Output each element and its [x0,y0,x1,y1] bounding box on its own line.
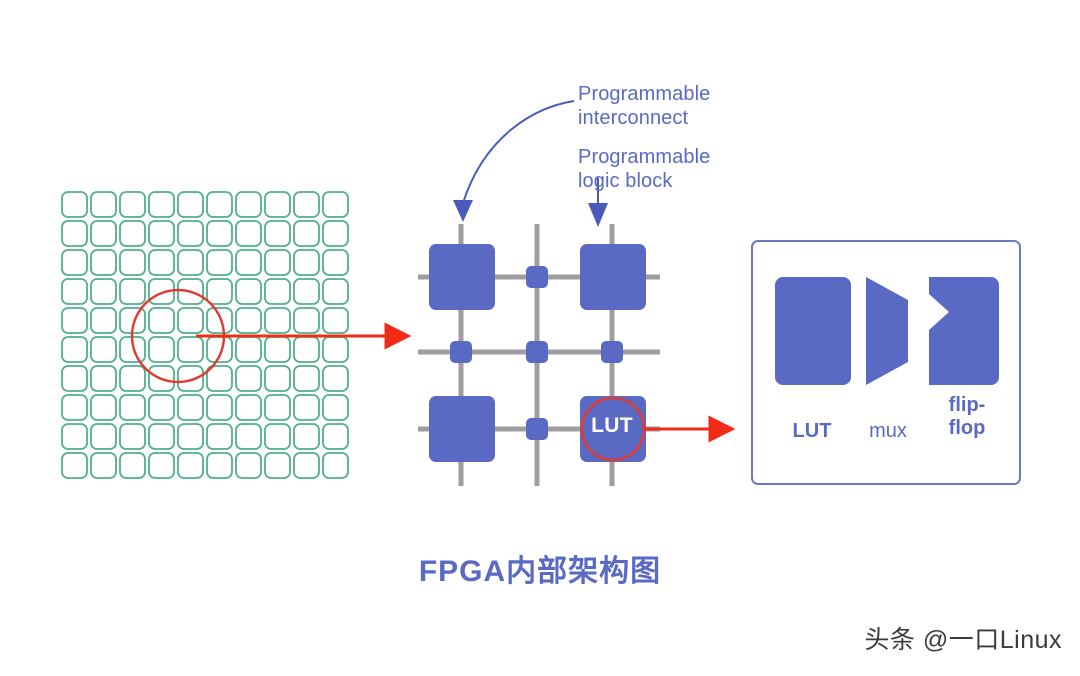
grid-cell [265,308,290,333]
grid-cell [91,221,116,246]
grid-cell [323,308,348,333]
grid-cell [323,279,348,304]
grid-cell [120,250,145,275]
grid-cell [294,192,319,217]
page-title: FPGA内部架构图 [0,546,1080,590]
grid-row [62,424,348,449]
grid-cell [149,221,174,246]
grid-cell [236,395,261,420]
grid-cell [120,424,145,449]
grid-cell [294,337,319,362]
mux-shape[interactable] [866,277,908,385]
grid-cell [207,192,232,217]
grid-cell [91,279,116,304]
grid-cell [62,192,87,217]
curved-arrow-interconnect-head [453,200,473,222]
callout-programmable-logic-block: Programmable logic block [578,145,710,193]
grid-cell [91,308,116,333]
grid-cell [236,337,261,362]
grid-cell [265,279,290,304]
grid-row [62,250,348,275]
grid-cell [120,395,145,420]
grid-cell [207,221,232,246]
flipflop-shape[interactable] [929,277,999,385]
grid-cell [323,453,348,478]
grid-cell [178,337,203,362]
grid-cell [91,395,116,420]
logic-block-top-left[interactable] [429,244,495,310]
grid-cell [62,250,87,275]
grid-cell [207,279,232,304]
grid-cell [265,250,290,275]
switch-box-b[interactable] [450,341,472,363]
grid-cell [236,221,261,246]
grid-cell [207,453,232,478]
detail-label-flipflop: flip- flop [926,394,1008,440]
switch-box-d[interactable] [601,341,623,363]
grid-cell [149,250,174,275]
grid-cell [62,337,87,362]
grid-cell [178,453,203,478]
grid-cell [236,308,261,333]
grid-cell [265,424,290,449]
grid-cell [91,366,116,391]
switch-box-a[interactable] [526,266,548,288]
fpga-architecture-diagram: Programmable interconnect Programmable l… [0,0,1080,676]
grid-cell [294,395,319,420]
grid-cell [91,250,116,275]
grid-row [62,395,348,420]
grid-row [62,453,348,478]
grid-cell [323,424,348,449]
logic-block-bottom-left[interactable] [429,396,495,462]
watermark-text: 头条 @一口Linux [864,620,1062,656]
grid-row [62,366,348,391]
grid-cell [149,453,174,478]
grid-cell [294,279,319,304]
lut-shape[interactable] [775,277,851,385]
curved-arrow-interconnect-line [463,101,574,203]
grid-cell [265,337,290,362]
grid-cell [265,366,290,391]
grid-cell [91,424,116,449]
grid-cell [120,453,145,478]
switch-box-c[interactable] [526,341,548,363]
callout-programmable-interconnect: Programmable interconnect [578,82,710,130]
grid-cell [294,453,319,478]
grid-cell [91,192,116,217]
grid-row [62,308,348,333]
grid-row [62,192,348,217]
grid-cell [149,308,174,333]
grid-cell [236,424,261,449]
grid-cell [294,221,319,246]
grid-cell [294,250,319,275]
grid-cell [120,279,145,304]
grid-cell [62,395,87,420]
grid-cell [236,250,261,275]
grid-cell [323,395,348,420]
grid-cell [207,424,232,449]
grid-cell [294,424,319,449]
grid-cell [265,453,290,478]
grid-cell [120,221,145,246]
grid-cell [149,192,174,217]
grid-cell [120,366,145,391]
detail-label-mux: mux [852,420,924,443]
grid-cell [178,366,203,391]
grid-cell [323,337,348,362]
grid-cell [62,424,87,449]
grid-cell [120,192,145,217]
grid-cell [207,250,232,275]
grid-cell [265,395,290,420]
grid-cell [265,221,290,246]
grid-cell [323,221,348,246]
grid-cell [207,395,232,420]
grid-cell [323,250,348,275]
grid-cell [149,337,174,362]
grid-cell [294,308,319,333]
grid-cell [62,453,87,478]
grid-cell [91,453,116,478]
grid-cell [236,366,261,391]
grid-cell [178,308,203,333]
grid-cell [178,424,203,449]
grid-cell [265,192,290,217]
grid-cell [323,192,348,217]
grid-cell [207,308,232,333]
detail-label-lut: LUT [770,420,854,443]
grid-cell [62,366,87,391]
grid-cell [236,192,261,217]
grid-cell [178,395,203,420]
grid-cell [62,279,87,304]
grid-cell [323,366,348,391]
grid-row [62,221,348,246]
grid-cell [149,395,174,420]
grid-cell [62,308,87,333]
logic-block-top-right[interactable] [580,244,646,310]
lut-node-label: LUT [580,414,644,438]
grid-cell [178,221,203,246]
switch-box-e[interactable] [526,418,548,440]
grid-cell [178,192,203,217]
grid-row [62,337,348,362]
straight-arrow-logic-block-head [588,203,608,227]
grid-cell [236,279,261,304]
grid-cell [149,424,174,449]
grid-cell [294,366,319,391]
grid-cell [91,337,116,362]
grid-cell [236,453,261,478]
grid-cell [62,221,87,246]
grid-cell [178,250,203,275]
